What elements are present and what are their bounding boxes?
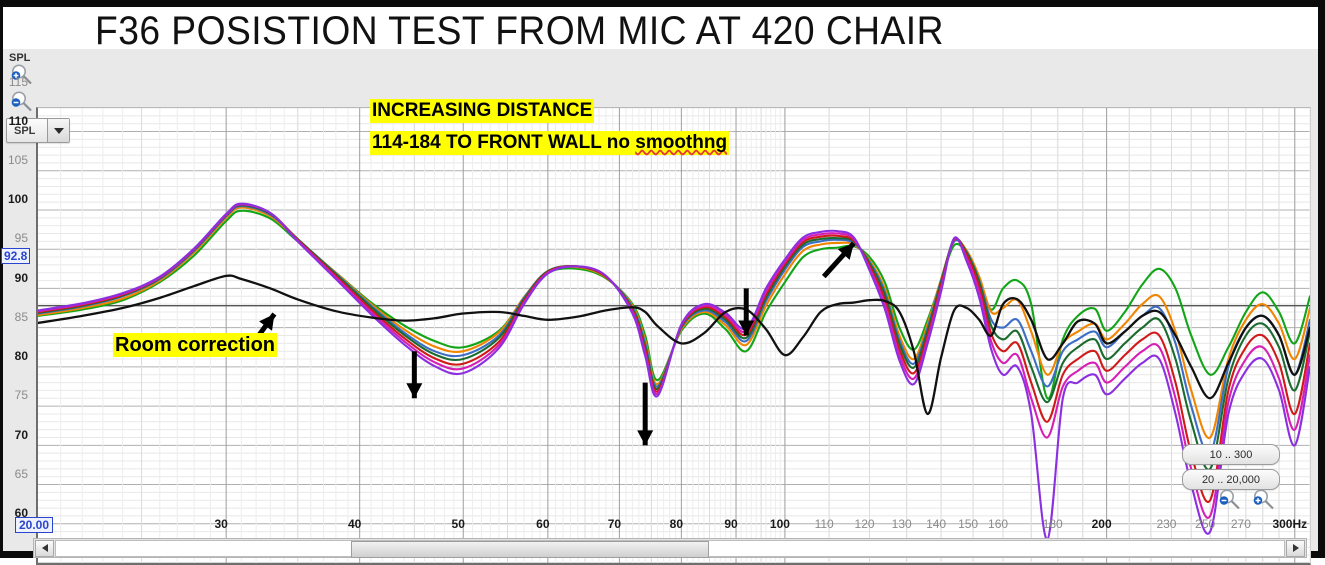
y-tick-80: 80 [15,349,28,363]
range-button-10-300[interactable]: 10 .. 300 [1182,444,1280,465]
annotation-room-correction: Room correction [113,333,277,357]
x-tick-80: 80 [670,517,683,531]
page-title: F36 POSISTION TEST FROM MIC AT 420 CHAIR [95,8,932,54]
chevron-down-icon[interactable] [47,119,69,142]
x-tick-70: 70 [608,517,621,531]
x-tick-150: 150 [958,517,978,531]
x-tick-250: 250 [1195,517,1215,531]
magnifier-plus-icon-x[interactable] [1250,487,1276,513]
x-tick-140: 140 [926,517,946,531]
x-tick-270: 270 [1231,517,1251,531]
y-cursor-value[interactable]: 92.8 [1,248,30,264]
annotation-misspelled-word: smoothng [635,132,727,153]
x-tick-300Hz: 300Hz [1272,517,1307,531]
y-tick-85: 85 [15,310,28,324]
x-tick-100: 100 [770,517,790,531]
magnifier-minus-icon-x[interactable] [1216,487,1242,513]
scroll-left-button[interactable] [35,540,54,557]
x-axis-ticks: 3040506070809010011012013014015016018020… [33,515,1305,539]
x-tick-110: 110 [815,517,834,531]
window-frame-right [1318,0,1325,558]
series-position-2-orange [38,208,1310,438]
screenshot-root: F36 POSISTION TEST FROM MIC AT 420 CHAIR… [0,0,1325,558]
x-tick-30: 30 [214,517,227,531]
annotation-front-wall: 114-184 TO FRONT WALL no smoothng [370,131,729,155]
y-tick-65: 65 [15,467,28,481]
y-tick-100: 100 [8,192,28,206]
x-tick-160: 160 [988,517,1008,531]
window-frame-top [0,0,1325,7]
y-tick-95: 95 [15,231,28,245]
x-tick-60: 60 [536,517,549,531]
x-cursor-value[interactable]: 20.00 [15,517,53,533]
x-tick-120: 120 [855,517,875,531]
y-axis-ticks: 1151101051009590858075706560 [0,58,31,513]
x-tick-130: 130 [892,517,912,531]
annotation-front-wall-text: 114-184 TO FRONT WALL no [372,132,635,153]
x-tick-180: 180 [1043,517,1063,531]
annotation-increasing-distance: INCREASING DISTANCE [370,99,594,123]
y-tick-70: 70 [15,428,28,442]
x-tick-50: 50 [452,517,465,531]
x-zoom-controls[interactable] [1216,487,1276,514]
scrollbar-track[interactable] [55,540,1285,557]
y-tick-115: 115 [9,75,28,89]
chart-window: SPL SPL 10 .. 300 20 [3,49,1318,551]
x-tick-40: 40 [348,517,361,531]
horizontal-scrollbar[interactable] [33,538,1307,558]
x-tick-230: 230 [1156,517,1176,531]
y-tick-75: 75 [15,388,28,402]
y-tick-105: 105 [8,153,28,167]
y-tick-110: 110 [9,114,28,128]
series-position-1-green [38,211,1310,399]
scroll-right-button[interactable] [1286,540,1305,557]
scrollbar-thumb[interactable] [351,541,709,558]
x-tick-200: 200 [1092,517,1112,531]
y-tick-90: 90 [15,271,28,285]
x-tick-90: 90 [724,517,737,531]
